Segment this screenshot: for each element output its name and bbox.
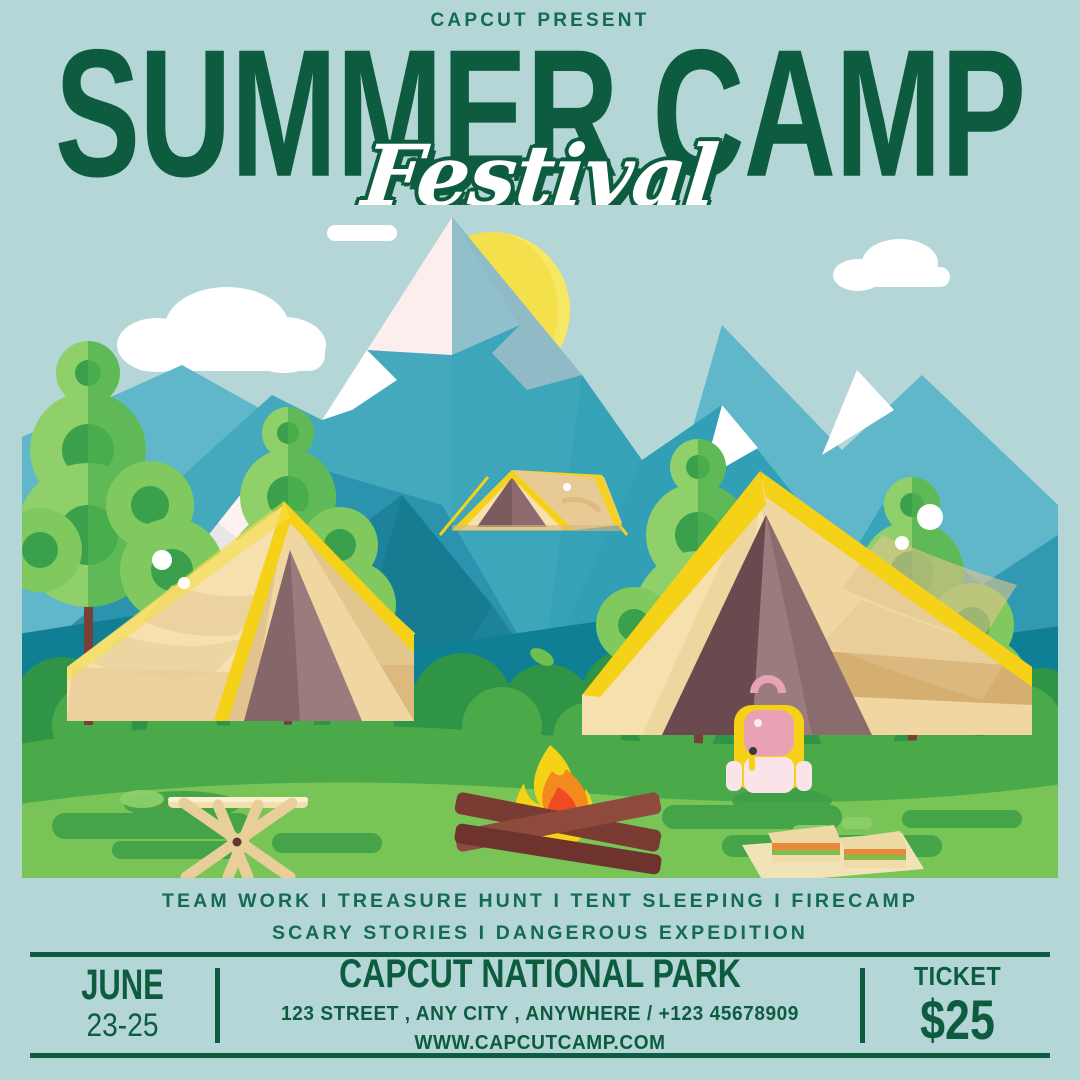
event-date: JUNE 23-25 [30, 965, 215, 1046]
scene-svg [22, 205, 1058, 878]
event-location: CAPCUT NATIONAL PARK 123 STREET , ANY CI… [220, 953, 860, 1058]
ticket-price: $25 [884, 991, 1032, 1048]
camp-illustration [22, 205, 1058, 878]
info-bar: JUNE 23-25 CAPCUT NATIONAL PARK 123 STRE… [30, 957, 1050, 1053]
poster-canvas: CAPCUT PRESENT SUMMER CAMP Festival [0, 0, 1080, 1080]
features-line-1: TEAM WORK I TREASURE HUNT I TENT SLEEPIN… [0, 886, 1080, 918]
venue-website[interactable]: WWW.CAPCUTCAMP.COM [248, 1029, 832, 1058]
features-line-2: SCARY STORIES I DANGEROUS EXPEDITION [0, 918, 1080, 950]
event-days: 23-25 [41, 1005, 204, 1045]
sandwich-icon [742, 825, 924, 878]
ticket-label: TICKET [874, 962, 1041, 991]
event-month: JUNE [56, 965, 189, 1006]
venue-address: 123 STREET , ANY CITY , ANYWHERE / +123 … [248, 999, 832, 1029]
features-list: TEAM WORK I TREASURE HUNT I TENT SLEEPIN… [0, 886, 1080, 949]
cloud-icon [327, 225, 397, 241]
ticket-info: TICKET $25 [865, 962, 1050, 1048]
venue-name: CAPCUT NATIONAL PARK [289, 953, 791, 995]
